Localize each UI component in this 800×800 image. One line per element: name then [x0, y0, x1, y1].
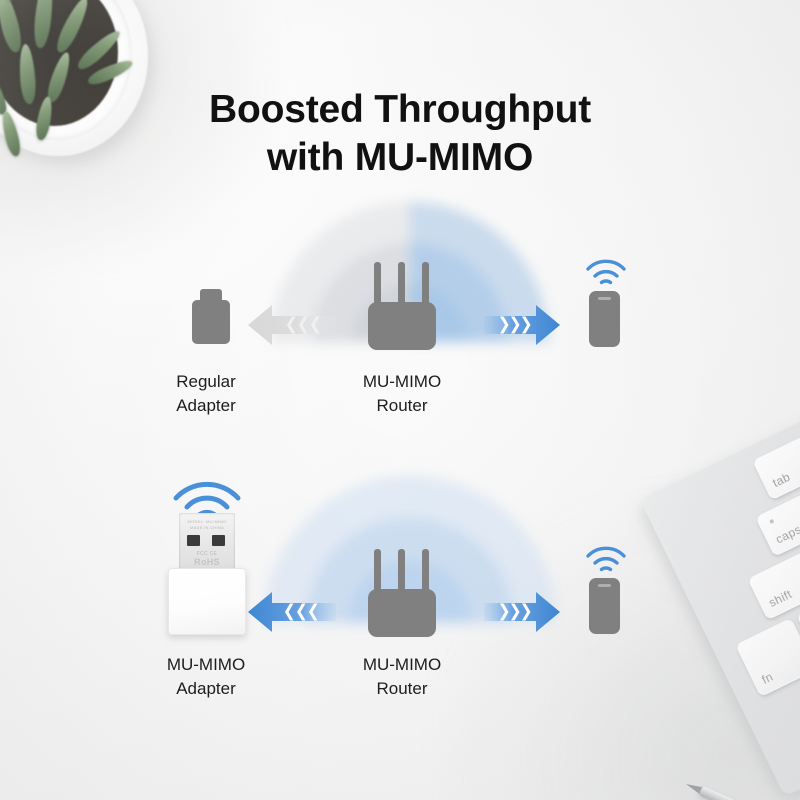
label-mu-mimo-adapter: MU-MIMO Adapter — [131, 653, 281, 701]
smartphone-speaker — [598, 584, 611, 587]
smartphone-body — [589, 578, 620, 634]
router-antenna-left — [374, 549, 381, 593]
usb-marking-rohs: RoHS — [179, 557, 235, 567]
headline-line-1: Boosted Throughput — [209, 88, 591, 131]
usb-adapter-white-icon: MODEL: MU-MIMO MADE IN CHINA FCC CE RoHS — [168, 513, 246, 635]
promo-image-canvas: tab caps lock shift fn control option Bo… — [0, 0, 800, 800]
router-antenna-right — [422, 549, 429, 593]
throughput-arrow-left-strong — [248, 590, 336, 634]
label-regular-adapter: Regular Adapter — [131, 370, 281, 418]
usb-adapter-body — [168, 568, 246, 635]
throughput-arrow-left-weak — [248, 303, 336, 347]
smartphone-speaker — [598, 297, 611, 300]
router-body — [368, 302, 436, 350]
usb-contact-left — [187, 535, 200, 546]
page-title: Boosted Throughput with MU-MIMO — [0, 86, 800, 183]
throughput-arrow-right-strong-top — [484, 303, 560, 347]
usb-contact-right — [212, 535, 225, 546]
usb-marking-origin: MADE IN CHINA — [179, 525, 235, 530]
wifi-signal-icon-phone-bottom — [585, 543, 627, 578]
headline-line-2: with MU-MIMO — [0, 134, 800, 182]
smartphone-body — [589, 291, 620, 347]
router-antenna-center — [398, 262, 405, 306]
usb-adapter-body — [192, 300, 230, 344]
router-antenna-center — [398, 549, 405, 593]
usb-marking-model: MODEL: MU-MIMO — [179, 519, 235, 524]
router-body — [368, 589, 436, 637]
throughput-arrow-right-strong-bottom — [484, 590, 560, 634]
router-antenna-right — [422, 262, 429, 306]
router-antenna-left — [374, 262, 381, 306]
label-mu-mimo-router-top: MU-MIMO Router — [327, 370, 477, 418]
wifi-signal-icon-phone-top — [585, 256, 627, 291]
usb-adapter-connector: MODEL: MU-MIMO MADE IN CHINA FCC CE RoHS — [179, 513, 235, 571]
label-mu-mimo-router-bottom: MU-MIMO Router — [327, 653, 477, 701]
